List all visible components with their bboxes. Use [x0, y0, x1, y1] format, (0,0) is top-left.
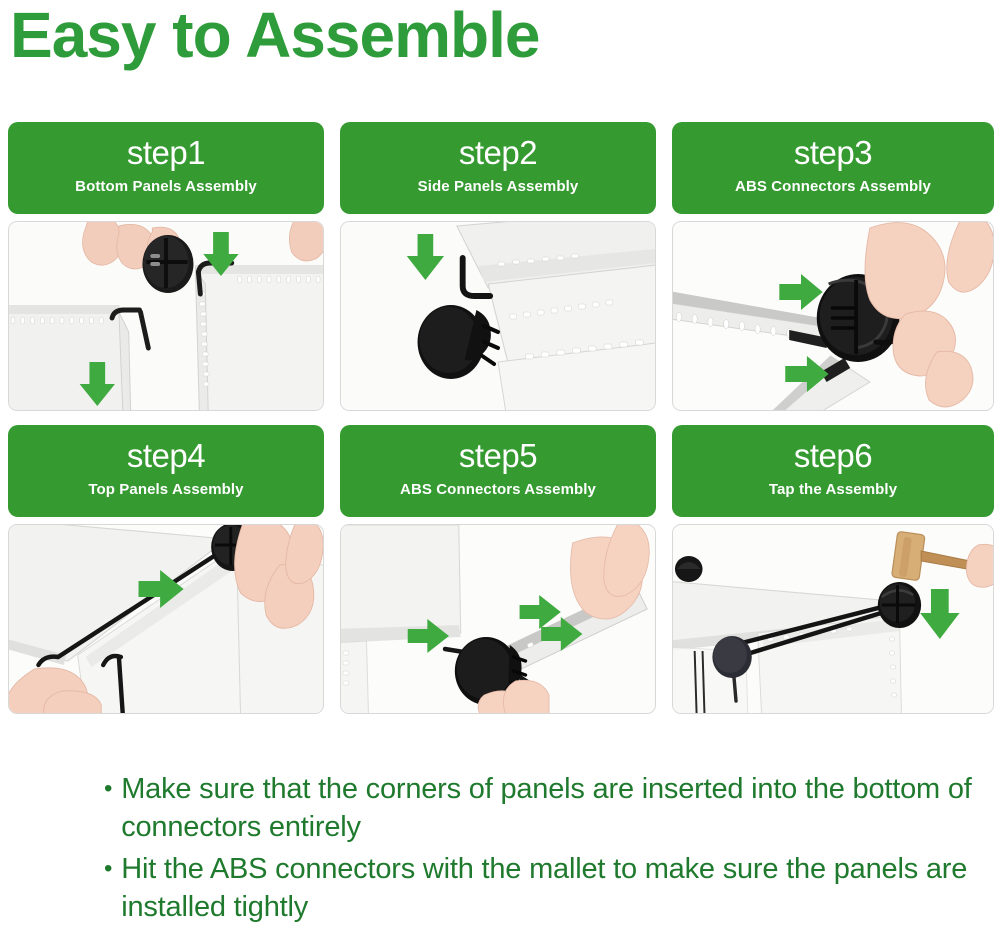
assembly-illustration-3 [673, 222, 993, 410]
note-item-1: • Make sure that the corners of panels a… [104, 770, 984, 846]
step-photo-1 [8, 221, 324, 411]
step-photo-3 [672, 221, 994, 411]
step-banner-6: step6 Tap the Assembly [672, 425, 994, 517]
step-card-3: step3 ABS Connectors Assembly [672, 122, 994, 411]
step-card-5: step5 ABS Connectors Assembly [340, 425, 656, 714]
step-photo-5 [340, 524, 656, 714]
product-infographic: Easy to Assemble step1 Bottom Panels Ass… [0, 0, 1000, 931]
bullet-icon: • [104, 770, 112, 808]
step-photo-2 [340, 221, 656, 411]
step-caption-4: Top Panels Assembly [14, 479, 318, 501]
step-photo-4 [8, 524, 324, 714]
step-banner-5: step5 ABS Connectors Assembly [340, 425, 656, 517]
note-text-1: Make sure that the corners of panels are… [121, 770, 984, 846]
step-caption-1: Bottom Panels Assembly [14, 176, 318, 198]
bullet-icon: • [104, 850, 112, 888]
page-title: Easy to Assemble [10, 0, 539, 74]
assembly-notes: • Make sure that the corners of panels a… [104, 770, 984, 926]
step-label-4: step4 [14, 436, 318, 476]
step-label-3: step3 [678, 133, 988, 173]
step-caption-3: ABS Connectors Assembly [678, 176, 988, 198]
step-label-1: step1 [14, 133, 318, 173]
step-banner-2: step2 Side Panels Assembly [340, 122, 656, 214]
step-label-5: step5 [346, 436, 650, 476]
steps-grid: step1 Bottom Panels Assembly [8, 122, 998, 714]
note-text-2: Hit the ABS connectors with the mallet t… [121, 850, 984, 926]
step-caption-5: ABS Connectors Assembly [346, 479, 650, 501]
step-banner-1: step1 Bottom Panels Assembly [8, 122, 324, 214]
step-banner-4: step4 Top Panels Assembly [8, 425, 324, 517]
assembly-illustration-5 [341, 525, 655, 713]
step-label-6: step6 [678, 436, 988, 476]
step-banner-3: step3 ABS Connectors Assembly [672, 122, 994, 214]
assembly-illustration-2 [341, 222, 655, 410]
step-caption-6: Tap the Assembly [678, 479, 988, 501]
step-card-4: step4 Top Panels Assembly [8, 425, 324, 714]
assembly-illustration-1 [9, 222, 323, 410]
assembly-illustration-6 [673, 525, 993, 713]
step-caption-2: Side Panels Assembly [346, 176, 650, 198]
note-item-2: • Hit the ABS connectors with the mallet… [104, 850, 984, 926]
step-card-1: step1 Bottom Panels Assembly [8, 122, 324, 411]
step-card-6: step6 Tap the Assembly [672, 425, 994, 714]
step-card-2: step2 Side Panels Assembly [340, 122, 656, 411]
step-label-2: step2 [346, 133, 650, 173]
step-photo-6 [672, 524, 994, 714]
assembly-illustration-4 [9, 525, 323, 713]
